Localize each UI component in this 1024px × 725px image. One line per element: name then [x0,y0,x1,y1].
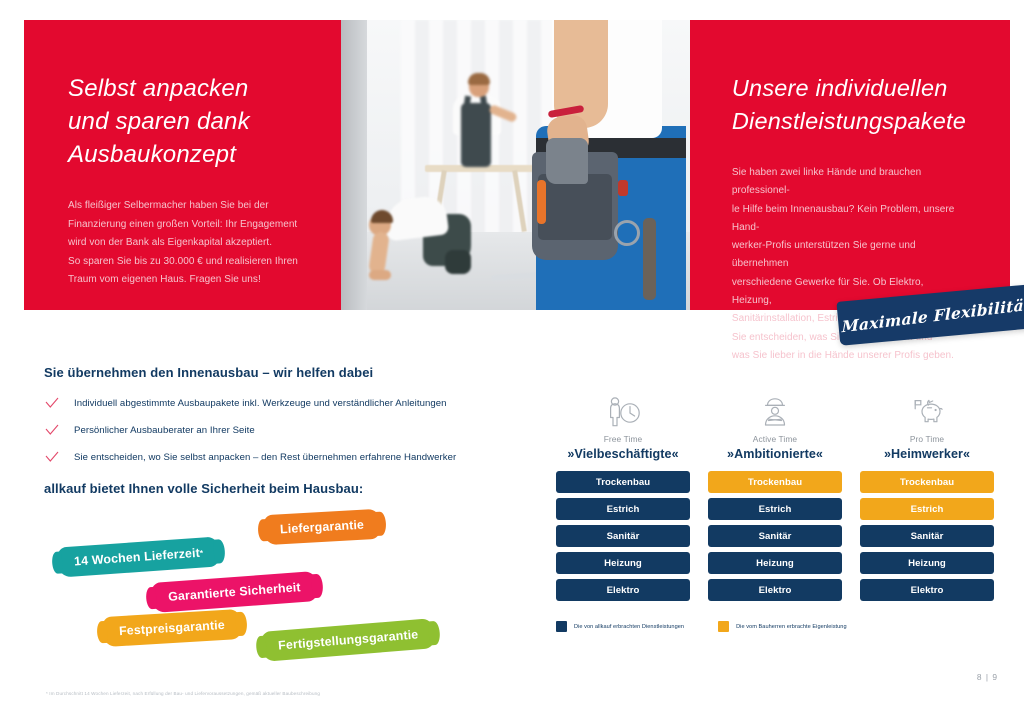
badge-festpreisgarantie: Festpreisgarantie [102,609,241,647]
badge-label: Festpreisgarantie [119,618,225,638]
badge-fertigstellungsgarantie: Fertigstellungsgarantie [261,618,435,662]
package-column-ambitionierte: Active Time »Ambitionierte« Trockenbau E… [708,392,842,601]
badge-liefergarantie: Liefergarantie [263,509,381,545]
package-row: Estrich [556,498,690,520]
package-row: Heizung [860,552,994,574]
innenausbau-heading: Sie übernehmen den Innenausbau – wir hel… [44,365,373,380]
service-packages: Free Time »Vielbeschäftigte« Trockenbau … [556,392,996,601]
photo-worker-background [447,75,505,175]
worker-helmet-icon [759,392,791,428]
innenausbau-check-list: Individuell abgestimmte Ausbaupakete ink… [44,392,514,473]
legend-label: Die vom Bauherren erbrachte Eigenleistun… [736,624,847,630]
package-subtitle: Free Time [604,434,643,444]
list-item: Persönlicher Ausbauberater an Ihrer Seit… [44,419,514,441]
package-row: Trockenbau [708,471,842,493]
package-row: Estrich [860,498,994,520]
package-rows: Trockenbau Estrich Sanitär Heizung Elekt… [860,471,994,601]
legend-item-bauherr: Die vom Bauherren erbrachte Eigenleistun… [718,621,847,632]
package-row: Trockenbau [860,471,994,493]
check-icon [44,449,60,465]
package-row: Elektro [556,579,690,601]
badge-label: Liefergarantie [280,518,365,537]
photo-wall-strip [341,20,367,310]
package-column-vielbeschaeftigte: Free Time »Vielbeschäftigte« Trockenbau … [556,392,690,601]
hero-photo [341,20,690,310]
package-name: »Vielbeschäftigte« [567,447,678,461]
package-row: Elektro [860,579,994,601]
sicherheit-heading: allkauf bietet Ihnen volle Sicherheit be… [44,481,363,496]
legend-swatch-blue [556,621,567,632]
legend-swatch-orange [718,621,729,632]
photo-worker-kneeling [369,190,473,282]
package-row: Trockenbau [556,471,690,493]
hero-right-title: Unsere individuellen Dienstleistungspake… [732,72,966,138]
hero-left-title: Selbst anpacken und sparen dank Ausbauko… [68,72,301,171]
check-icon [44,422,60,438]
hero-band: Selbst anpacken und sparen dank Ausbauko… [24,20,1010,310]
list-item: Individuell abgestimmte Ausbaupakete ink… [44,392,514,414]
list-item-label: Sie entscheiden, wo Sie selbst anpacken … [74,451,456,464]
package-row: Heizung [556,552,690,574]
check-icon [44,395,60,411]
package-row: Sanitär [860,525,994,547]
legend-label: Die von allkauf erbrachten Dienstleistun… [574,624,684,630]
package-rows: Trockenbau Estrich Sanitär Heizung Elekt… [556,471,690,601]
package-column-heimwerker: Pro Time »Heimwerker« Trockenbau Estrich… [860,392,994,601]
badge-label: 14 Wochen Lieferzeit [74,546,201,569]
footnote: * Im Durchschnitt 14 Wochen Lieferzeit, … [46,691,320,696]
person-clock-icon [604,392,642,428]
package-subtitle: Pro Time [910,434,944,444]
list-item: Sie entscheiden, wo Sie selbst anpacken … [44,446,514,468]
badge-label: Garantierte Sicherheit [168,580,301,604]
piggy-bank-icon [909,392,945,428]
hero-left-body: Als fleißiger Selbermacher haben Sie bei… [68,197,301,290]
list-item-label: Individuell abgestimmte Ausbaupakete ink… [74,397,447,410]
hero-panel-right: Unsere individuellen Dienstleistungspake… [690,20,1010,310]
package-row: Estrich [708,498,842,520]
package-row: Heizung [708,552,842,574]
badge-label: Fertigstellungsgarantie [278,627,419,652]
ribbon-label: Maximale Flexibilität [841,294,1024,336]
package-subtitle: Active Time [753,434,797,444]
badge-lieferzeit: 14 Wochen Lieferzeit* [57,536,220,577]
badge-garantierte-sicherheit: Garantierte Sicherheit [151,571,318,613]
package-row: Sanitär [556,525,690,547]
page-number: 8 | 9 [977,672,998,682]
packages-legend: Die von allkauf erbrachten Dienstleistun… [556,621,847,632]
legend-item-allkauf: Die von allkauf erbrachten Dienstleistun… [556,621,684,632]
package-rows: Trockenbau Estrich Sanitär Heizung Elekt… [708,471,842,601]
package-name: »Heimwerker« [884,447,970,461]
package-row: Elektro [708,579,842,601]
photo-worker-foreground [526,20,690,310]
list-item-label: Persönlicher Ausbauberater an Ihrer Seit… [74,424,255,437]
package-name: »Ambitionierte« [727,447,823,461]
package-row: Sanitär [708,525,842,547]
hero-panel-left: Selbst anpacken und sparen dank Ausbauko… [24,20,341,310]
